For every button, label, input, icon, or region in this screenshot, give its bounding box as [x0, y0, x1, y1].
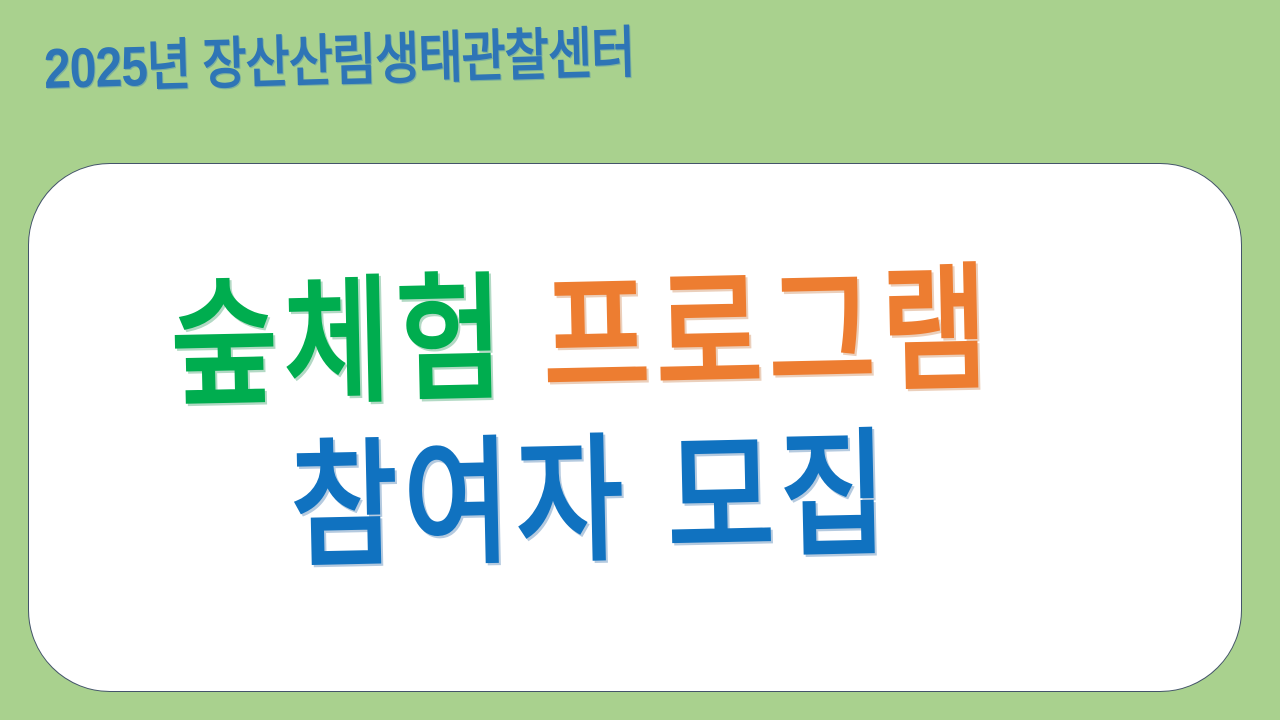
headline-segment-forest-experience: 숲체험	[169, 262, 510, 422]
page-title: 2025년 장산산림생태관찰센터	[43, 25, 635, 97]
headline-segment-participant-recruitment: 참여자 모집	[289, 418, 894, 584]
headline-segment-program: 프로그램	[541, 252, 995, 415]
header-area: 2025년 장산산림생태관찰센터	[0, 0, 1280, 163]
poster-canvas: 2025년 장산산림생태관찰센터 숲체험프로그램 참여자 모집	[0, 0, 1280, 720]
headline-line-1: 숲체험프로그램	[170, 260, 996, 414]
headline-space	[510, 385, 544, 386]
content-card-inner: 숲체험프로그램 참여자 모집	[29, 164, 1241, 691]
content-card: 숲체험프로그램 참여자 모집	[28, 163, 1242, 692]
headline-line-2: 참여자 모집	[290, 426, 895, 575]
